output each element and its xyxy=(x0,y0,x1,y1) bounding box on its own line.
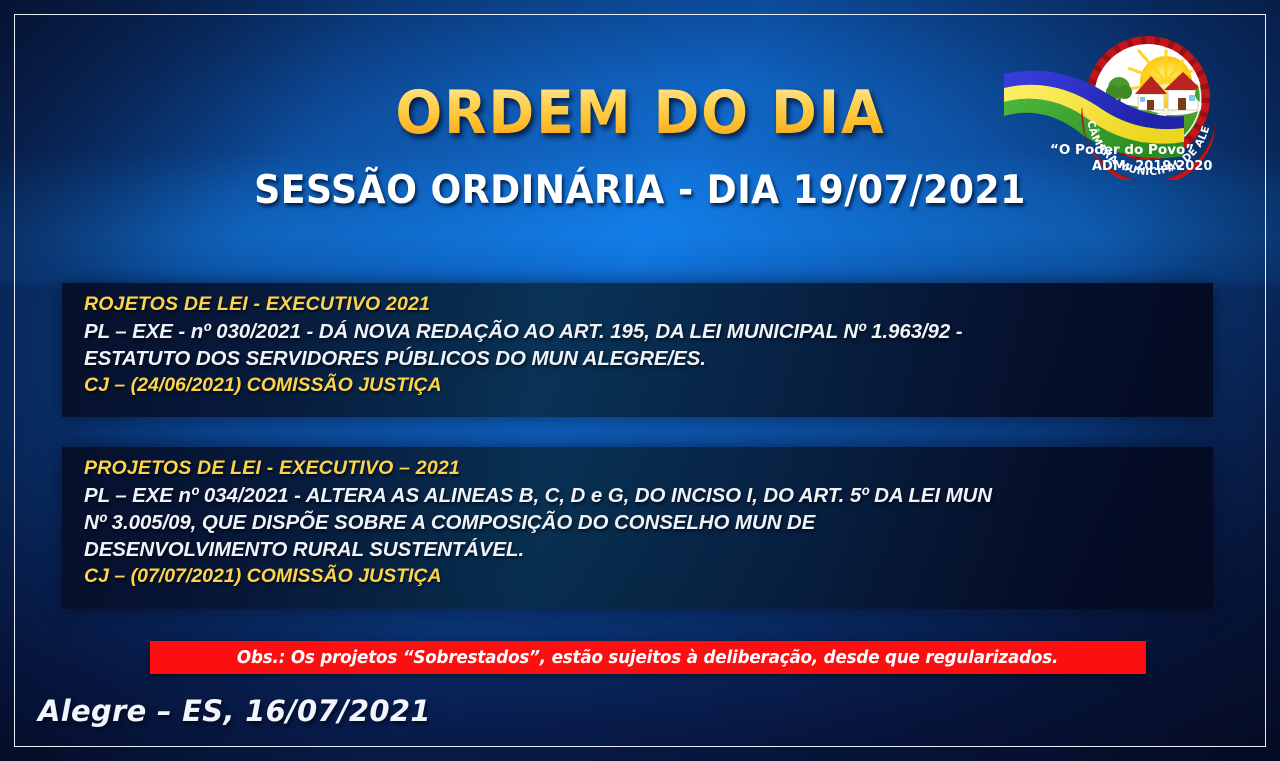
agenda-item-body-line: PL – EXE nº 034/2021 - ALTERA AS ALINEAS… xyxy=(84,482,1197,509)
observation-text: Obs.: Os projetos “Sobrestados”, estão s… xyxy=(237,647,1058,668)
page-title-wrap: ORDEM DO DIA xyxy=(0,78,1280,148)
place-and-date: Alegre – ES, 16/07/2021 xyxy=(38,694,431,728)
page-title: ORDEM DO DIA xyxy=(395,78,885,148)
agenda-item-body-line: PL – EXE - nº 030/2021 - DÁ NOVA REDAÇÃO… xyxy=(84,318,1197,345)
page-subtitle: SESSÃO ORDINÁRIA - DIA 19/07/2021 xyxy=(45,168,1235,213)
slide-canvas: CÂMARA MUNICIPAL DE ALEGRE - ES “O Poder… xyxy=(0,0,1280,761)
agenda-item-body-line: ESTATUTO DOS SERVIDORES PÚBLICOS DO MUN … xyxy=(84,345,1197,372)
agenda-item-committee: CJ – (07/07/2021) COMISSÃO JUSTIÇA xyxy=(84,563,1197,589)
agenda-item-panel: PROJETOS DE LEI - EXECUTIVO – 2021 PL – … xyxy=(62,447,1213,609)
agenda-item-body-line: DESENVOLVIMENTO RURAL SUSTENTÁVEL. xyxy=(84,536,1197,563)
agenda-item-panel: ROJETOS DE LEI - EXECUTIVO 2021 PL – EXE… xyxy=(62,283,1213,417)
agenda-item-body-line: Nº 3.005/09, QUE DISPÕE SOBRE A COMPOSIÇ… xyxy=(84,509,1197,536)
agenda-item-committee: CJ – (24/06/2021) COMISSÃO JUSTIÇA xyxy=(84,372,1197,398)
observation-banner: Obs.: Os projetos “Sobrestados”, estão s… xyxy=(150,641,1146,674)
agenda-item-header: PROJETOS DE LEI - EXECUTIVO – 2021 xyxy=(84,456,1197,482)
agenda-item-header: ROJETOS DE LEI - EXECUTIVO 2021 xyxy=(84,292,1197,318)
